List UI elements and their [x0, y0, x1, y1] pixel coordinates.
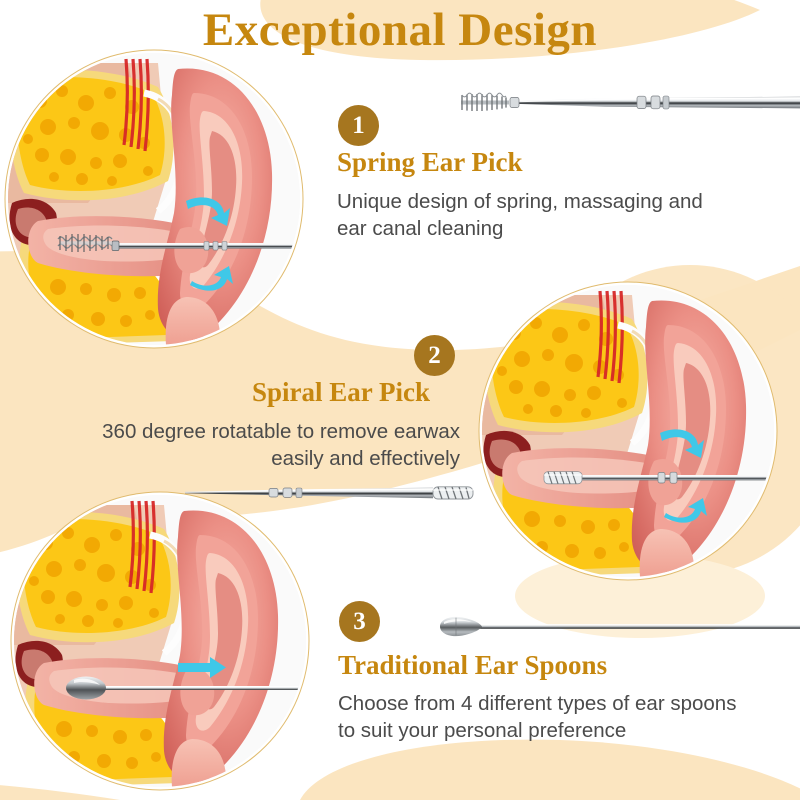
- infographic-page: Exceptional Design: [0, 0, 800, 800]
- spiral-ear-pick-tool: [183, 478, 513, 508]
- section-body-3: Choose from 4 different types of ear spo…: [338, 690, 788, 744]
- ear-anatomy-spring-pick: [8, 53, 300, 345]
- section-heading-2: Spiral Ear Pick: [252, 378, 430, 408]
- section-badge-3: 3: [339, 601, 380, 642]
- section-badge-1: 1: [338, 105, 379, 146]
- page-title: Exceptional Design: [0, 6, 800, 55]
- ear-anatomy-spiral-pick: [482, 285, 774, 577]
- ear-spoon-tool: [432, 612, 800, 640]
- section-body-2-line-1: 360 degree rotatable to remove earwax: [60, 418, 460, 445]
- section-body-2-line-2: easily and effectively: [60, 445, 460, 472]
- section-body-3-line-2: to suit your personal preference: [338, 717, 788, 744]
- section-body-3-line-1: Choose from 4 different types of ear spo…: [338, 690, 788, 717]
- section-body-2: 360 degree rotatable to remove earwax ea…: [60, 418, 460, 472]
- section-heading-1: Spring Ear Pick: [337, 148, 523, 178]
- section-heading-3: Traditional Ear Spoons: [338, 651, 607, 681]
- bottom-left-cream-corner: [0, 782, 120, 800]
- section-body-1-line-2: ear canal cleaning: [337, 215, 757, 242]
- section-badge-2: 2: [414, 335, 455, 376]
- spring-ear-pick-tool: [455, 88, 800, 118]
- bottom-cream-blob: [300, 740, 800, 800]
- section-body-1-line-1: Unique design of spring, massaging and: [337, 188, 757, 215]
- ear-anatomy-ear-spoon: [14, 495, 306, 787]
- section-body-1: Unique design of spring, massaging and e…: [337, 188, 757, 242]
